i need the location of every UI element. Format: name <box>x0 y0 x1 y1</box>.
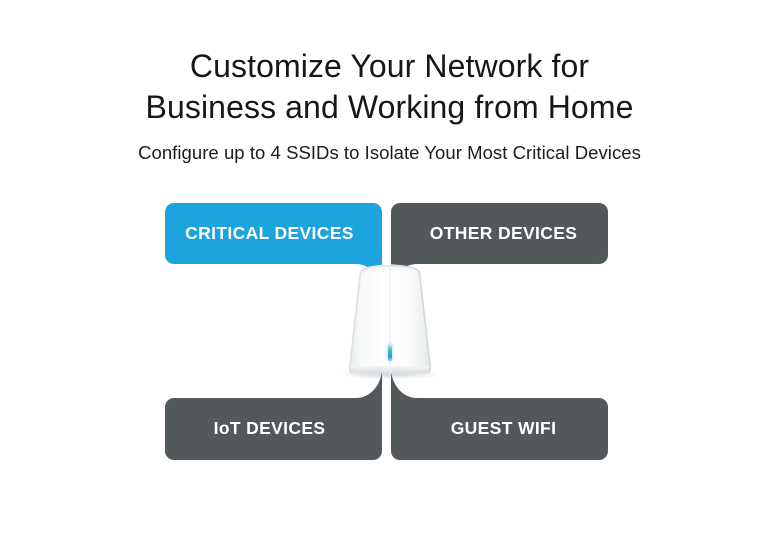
page-title-line-2: Business and Working from Home <box>0 87 779 128</box>
page-title-line-1: Customize Your Network for <box>0 46 779 87</box>
ssid-label-other-devices: OTHER DEVICES <box>430 225 578 243</box>
ssid-label-guest-wifi: GUEST WIFI <box>451 420 557 438</box>
heading-block: Customize Your Network for Business and … <box>0 46 779 165</box>
promo-graphic: Customize Your Network for Business and … <box>0 0 779 536</box>
ssid-box-critical-devices[interactable]: CRITICAL DEVICES <box>165 203 382 264</box>
ssid-label-critical-devices: CRITICAL DEVICES <box>185 225 354 243</box>
wifi-router-graphic <box>334 262 446 382</box>
page-subtitle: Configure up to 4 SSIDs to Isolate Your … <box>0 141 779 165</box>
router-status-led <box>388 344 392 361</box>
ssid-label-iot-devices: IoT DEVICES <box>214 420 326 438</box>
ssid-box-guest-wifi[interactable]: GUEST WIFI <box>391 398 608 460</box>
ssid-quadrant-diagram: CRITICAL DEVICES OTHER DEVICES IoT DEVIC… <box>0 190 779 480</box>
ssid-box-other-devices[interactable]: OTHER DEVICES <box>391 203 608 264</box>
ssid-box-iot-devices[interactable]: IoT DEVICES <box>165 398 382 460</box>
